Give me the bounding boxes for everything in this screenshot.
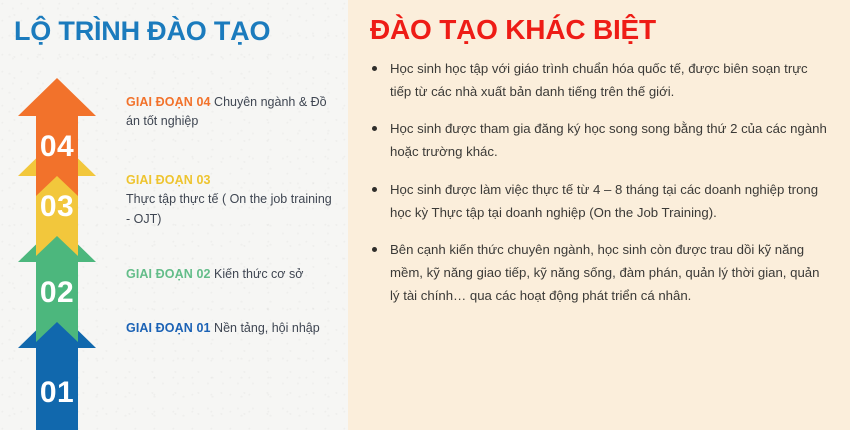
list-item-text: Học sinh học tập với giáo trình chuẩn hó… <box>390 61 808 99</box>
page-title-distinctive: ĐÀO TẠO KHÁC BIỆT <box>370 14 656 46</box>
stage-arrow-02-number: 02 <box>40 276 74 309</box>
bullet-dot-icon <box>372 126 377 131</box>
stage-description-01: Nền tảng, hội nhập <box>214 321 320 335</box>
stage-arrow-stack: 01 02 03 04 <box>0 70 120 430</box>
stage-description-02: Kiến thức cơ sở <box>214 267 303 281</box>
stage-tag-02: GIAI ĐOẠN 02 <box>126 267 211 281</box>
training-roadmap-panel: LỘ TRÌNH ĐÀO TẠO 01 02 03 <box>0 0 348 430</box>
stage-label-02: GIAI ĐOẠN 02 Kiến thức cơ sở <box>126 265 338 284</box>
stage-label-01: GIAI ĐOẠN 01 Nền tảng, hội nhập <box>126 319 338 338</box>
stage-tag-01: GIAI ĐOẠN 01 <box>126 321 211 335</box>
list-item: Học sinh học tập với giáo trình chuẩn hó… <box>370 58 832 103</box>
distinctive-training-panel: ĐÀO TẠO KHÁC BIỆT Học sinh học tập với g… <box>348 0 850 430</box>
stage-arrow-01-number: 01 <box>40 376 74 409</box>
stage-label-04: GIAI ĐOẠN 04 Chuyên ngành & Đồ án tốt ng… <box>126 93 338 132</box>
stage-label-03: GIAI ĐOẠN 03 Thực tập thực tế ( On the j… <box>126 171 338 229</box>
stage-arrow-04-number: 04 <box>40 130 74 163</box>
stage-arrow-01[interactable]: 01 <box>18 310 96 430</box>
list-item: Học sinh được làm việc thực tế từ 4 – 8 … <box>370 179 832 224</box>
list-item-text: Bên cạnh kiến thức chuyên ngành, học sin… <box>390 242 819 302</box>
list-item-text: Học sinh được tham gia đăng ký học song … <box>390 121 827 159</box>
benefits-list: Học sinh học tập với giáo trình chuẩn hó… <box>370 58 832 307</box>
stage-arrow-03-number: 03 <box>40 190 74 223</box>
list-item-text: Học sinh được làm việc thực tế từ 4 – 8 … <box>390 182 818 220</box>
list-item: Học sinh được tham gia đăng ký học song … <box>370 118 832 163</box>
bullet-dot-icon <box>372 66 377 71</box>
stage-tag-03: GIAI ĐOẠN 03 <box>126 171 338 190</box>
page-title-roadmap: LỘ TRÌNH ĐÀO TẠO <box>14 16 270 47</box>
stage-tag-04: GIAI ĐOẠN 04 <box>126 95 211 109</box>
stage-description-03: Thực tập thực tế ( On the job training -… <box>126 192 332 225</box>
list-item: Bên cạnh kiến thức chuyên ngành, học sin… <box>370 239 832 307</box>
slide-root: LỘ TRÌNH ĐÀO TẠO 01 02 03 <box>0 0 850 430</box>
bullet-dot-icon <box>372 247 377 252</box>
bullet-dot-icon <box>372 187 377 192</box>
